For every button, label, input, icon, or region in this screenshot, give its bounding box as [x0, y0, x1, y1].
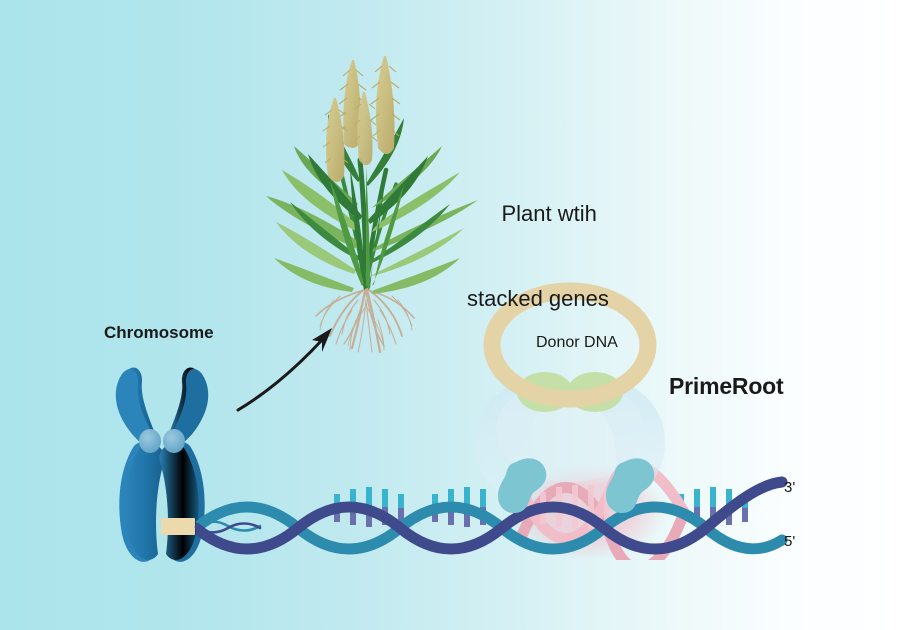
plant-roots — [316, 286, 414, 352]
plant-label-line2: stacked genes — [467, 285, 609, 313]
five-prime-label: 5' — [784, 532, 795, 551]
chromosome — [116, 367, 208, 561]
diagram-scene — [0, 0, 900, 630]
rice-plant — [266, 56, 478, 352]
regeneration-arrow — [238, 328, 332, 410]
primeroot-label: PrimeRoot — [669, 372, 784, 401]
chromosome-locus-band — [161, 518, 195, 535]
centromere-left — [139, 429, 161, 453]
plant-label-line1: Plant wtih — [501, 201, 596, 226]
donor-dna-label: Donor DNA — [536, 333, 618, 353]
chromosome-label: Chromosome — [104, 322, 214, 344]
centromere-right — [163, 429, 185, 453]
three-prime-label: 3' — [784, 478, 795, 497]
figure-canvas: Plant wtih stacked genes Chromosome Prim… — [0, 0, 900, 630]
